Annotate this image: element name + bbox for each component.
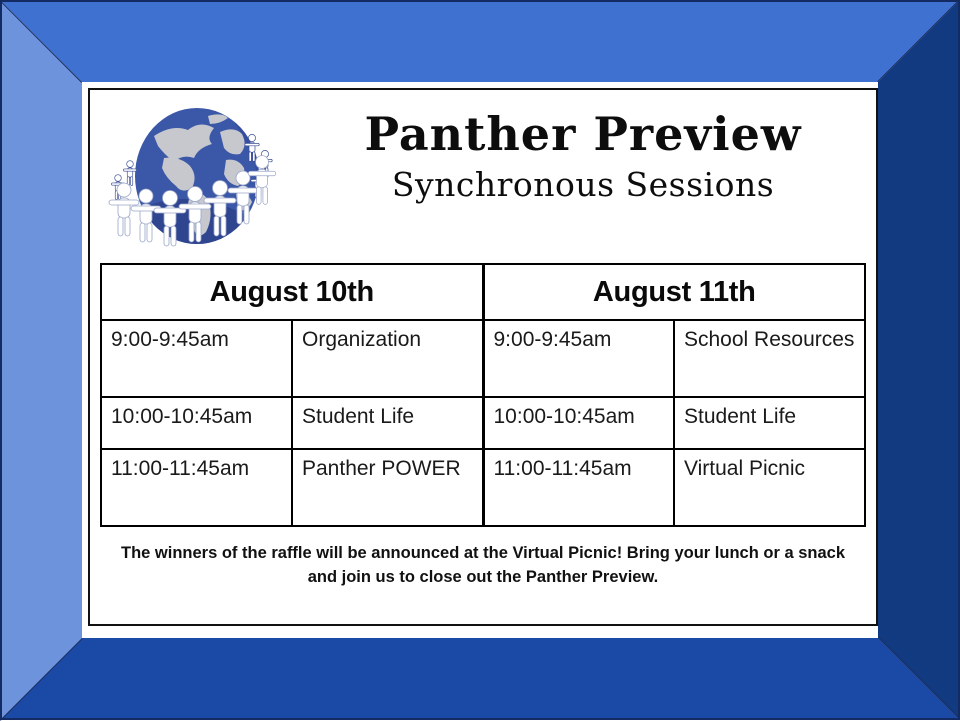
table-row: 9:00-9:45am Organization 9:00-9:45am Sch…: [101, 320, 865, 397]
session-time: 9:00-9:45am: [483, 320, 674, 397]
raffle-announcement-note: The winners of the raffle will be announ…: [114, 542, 852, 590]
session-time: 9:00-9:45am: [101, 320, 292, 397]
session-schedule-table: August 10th August 11th 9:00-9:45am Orga…: [100, 263, 866, 527]
table-header-row: August 10th August 11th: [101, 264, 865, 320]
session-time: 10:00-10:45am: [483, 397, 674, 449]
session-time: 11:00-11:45am: [483, 449, 674, 526]
session-topic: Organization: [292, 320, 483, 397]
table-row: 10:00-10:45am Student Life 10:00-10:45am…: [101, 397, 865, 449]
session-topic: Panther POWER: [292, 449, 483, 526]
globe-with-people-holding-hands-icon: [102, 98, 288, 256]
session-topic: Student Life: [674, 397, 865, 449]
decorative-frame: Panther Preview Synchronous Sessions Aug…: [0, 0, 960, 720]
session-topic: Virtual Picnic: [674, 449, 865, 526]
flyer-card: Panther Preview Synchronous Sessions Aug…: [88, 88, 878, 626]
page-subtitle: Synchronous Sessions: [300, 165, 866, 205]
page-title: Panther Preview: [300, 108, 866, 161]
session-time: 11:00-11:45am: [101, 449, 292, 526]
session-time: 10:00-10:45am: [101, 397, 292, 449]
day-heading-august-10: August 10th: [101, 264, 483, 320]
session-topic: School Resources: [674, 320, 865, 397]
session-topic: Student Life: [292, 397, 483, 449]
title-block: Panther Preview Synchronous Sessions: [300, 108, 866, 204]
day-heading-august-11: August 11th: [483, 264, 865, 320]
table-row: 11:00-11:45am Panther POWER 11:00-11:45a…: [101, 449, 865, 526]
flyer-header: Panther Preview Synchronous Sessions: [90, 90, 876, 258]
